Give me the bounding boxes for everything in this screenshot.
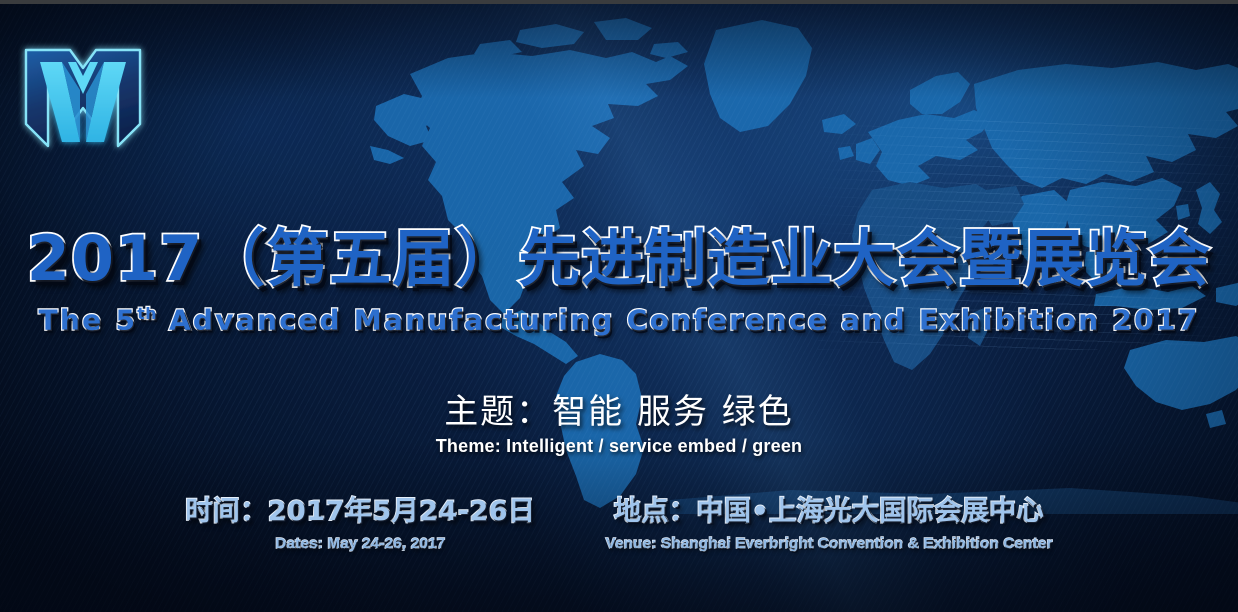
event-date-chinese: 时间：2017年5月24-26日 (185, 498, 535, 526)
page-title-english: The 5th Advanced Manufacturing Conferenc… (0, 306, 1238, 334)
theme-english: Theme: Intelligent / service embed / gre… (0, 436, 1238, 457)
title-english-ordinal: th (137, 304, 157, 323)
page-title-chinese: 2017（第五届）先进制造业大会暨展览会 (0, 228, 1238, 290)
title-english-prefix: The 5 (38, 303, 137, 336)
theme-chinese: 主题：智能 服务 绿色 (0, 384, 1238, 433)
top-edge-bar (0, 0, 1238, 4)
event-date-english: Dates: May 24-26, 2017 (185, 535, 535, 552)
banner-text-layer: 2017（第五届）先进制造业大会暨展览会 The 5th Advanced Ma… (0, 0, 1238, 612)
conference-banner: 2017（第五届）先进制造业大会暨展览会 The 5th Advanced Ma… (0, 0, 1238, 612)
event-venue-block: 地点：中国•上海光大国际会展中心 Venue: Shanghai Everbri… (606, 498, 1053, 552)
event-venue-english: Venue: Shanghai Everbright Convention & … (606, 535, 1053, 552)
event-info-row: 时间：2017年5月24-26日 Dates: May 24-26, 2017 … (0, 498, 1238, 552)
event-date-block: 时间：2017年5月24-26日 Dates: May 24-26, 2017 (185, 498, 535, 552)
event-venue-chinese: 地点：中国•上海光大国际会展中心 (606, 498, 1053, 526)
title-english-suffix: Advanced Manufacturing Conference and Ex… (157, 303, 1200, 336)
